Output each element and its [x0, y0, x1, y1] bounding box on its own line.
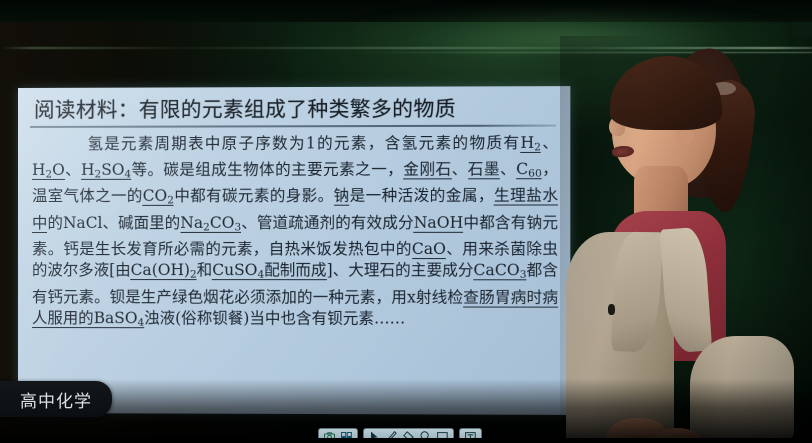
- slide-body-paragraph: 氢是元素周期表中原子序数为1的元素，含氢元素的物质有H2、H2O、H2SO4等。…: [32, 133, 558, 336]
- slide-body-text: 氢是元素周期表中原子序数为1的元素，含氢元素的物质有H2、H2O、H2SO4等。…: [32, 133, 558, 336]
- clip-microphone: [608, 304, 615, 315]
- course-watermark-label: 高中化学: [20, 387, 92, 412]
- slide-title: 阅读材料：有限的元素组成了种类繁多的物质: [34, 91, 556, 123]
- projected-slide: 阅读材料：有限的元素组成了种类繁多的物质 氢是元素周期表中原子序数为1的元素，含…: [18, 86, 570, 415]
- course-watermark: 高中化学: [0, 381, 112, 417]
- video-player-stage: 阅读材料：有限的元素组成了种类繁多的物质 氢是元素周期表中原子序数为1的元素，含…: [0, 0, 812, 443]
- slide-title-underline: [30, 125, 556, 128]
- video-bottom-bar: [0, 438, 812, 443]
